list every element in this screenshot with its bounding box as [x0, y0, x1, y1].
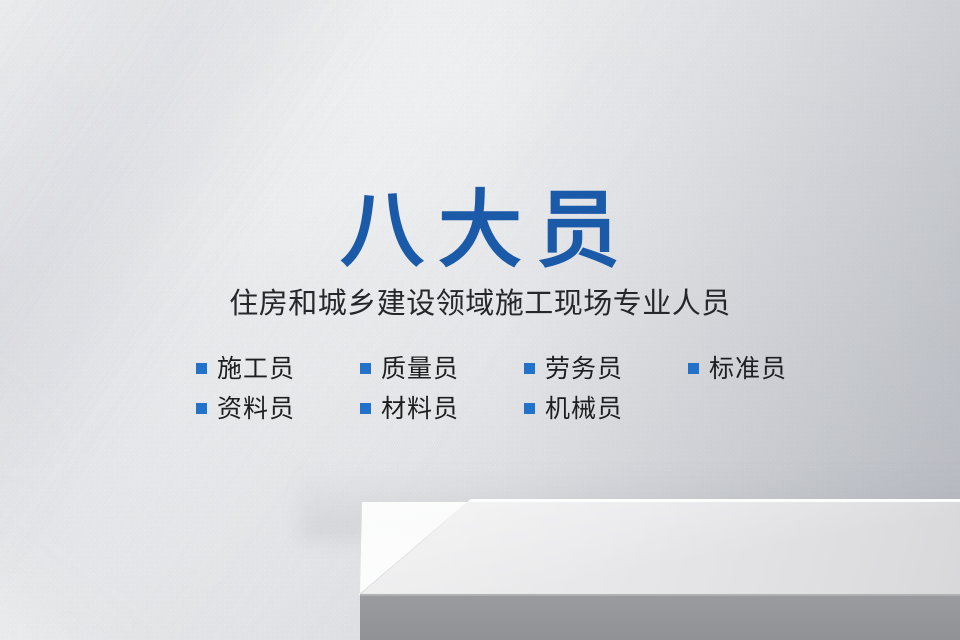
role-item-shigongyuan[interactable]: 施工员 [196, 356, 360, 381]
role-row-2: 资料员 材料员 机械员 [196, 388, 796, 428]
role-item-cailiaoyuan[interactable]: 材料员 [360, 396, 524, 421]
podium-front-face [360, 594, 960, 640]
role-label: 质量员 [381, 356, 459, 381]
poster-canvas: 八大员 住房和城乡建设领域施工现场专业人员 施工员 质量员 劳务员 [0, 0, 960, 640]
role-item-zhiliangyuan[interactable]: 质量员 [360, 356, 524, 381]
role-label: 施工员 [217, 356, 295, 381]
role-item-laowuyuan[interactable]: 劳务员 [524, 356, 688, 381]
role-label: 机械员 [545, 396, 623, 421]
square-bullet-icon [360, 363, 371, 374]
role-label: 标准员 [709, 356, 787, 381]
square-bullet-icon [196, 403, 207, 414]
role-row-1: 施工员 质量员 劳务员 标准员 [196, 348, 796, 388]
role-list: 施工员 质量员 劳务员 标准员 资料员 [196, 348, 796, 428]
role-label: 劳务员 [545, 356, 623, 381]
square-bullet-icon [524, 363, 535, 374]
role-label: 资料员 [217, 396, 295, 421]
main-title: 八大员 [0, 188, 960, 272]
square-bullet-icon [524, 403, 535, 414]
role-item-jixieyuan[interactable]: 机械员 [524, 396, 688, 421]
subtitle: 住房和城乡建设领域施工现场专业人员 [0, 286, 960, 321]
square-bullet-icon [688, 363, 699, 374]
square-bullet-icon [360, 403, 371, 414]
role-item-biaozhunyuan[interactable]: 标准员 [688, 356, 852, 381]
role-item-ziliaoyuan[interactable]: 资料员 [196, 396, 360, 421]
square-bullet-icon [196, 363, 207, 374]
role-label: 材料员 [381, 396, 459, 421]
